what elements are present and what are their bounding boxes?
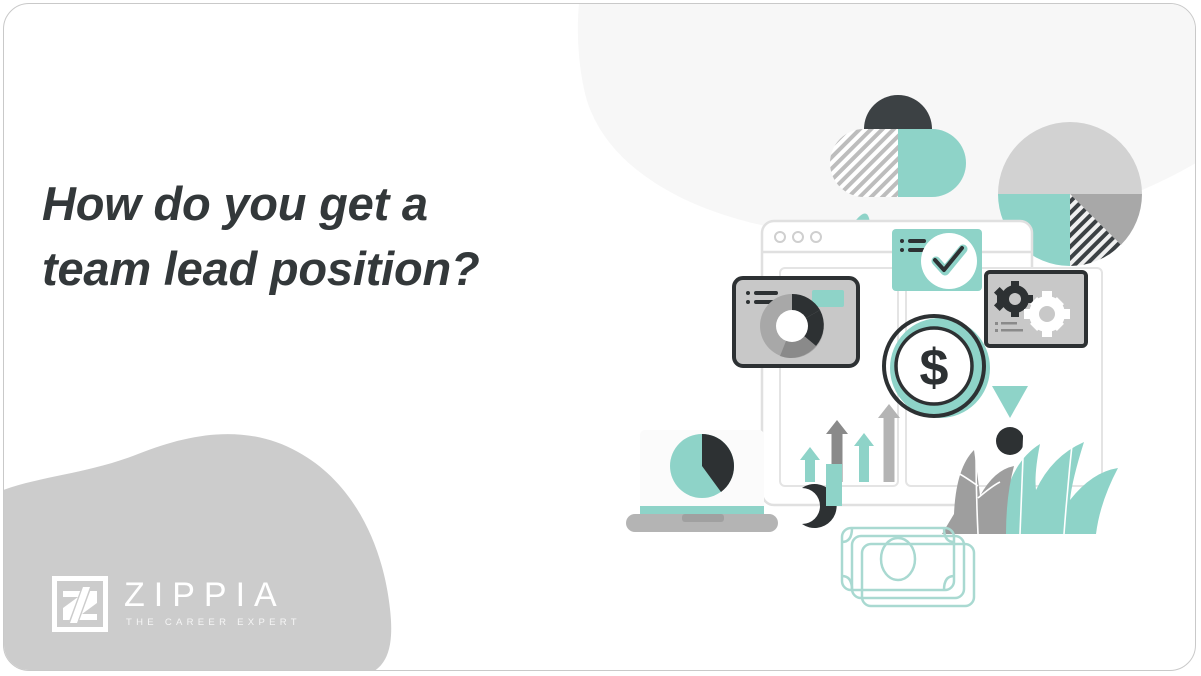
donut-chart: [760, 294, 824, 358]
teal-badge: [812, 290, 844, 307]
page-title: How do you get a team lead position?: [42, 172, 642, 302]
headline-line-2: team lead position?: [42, 237, 642, 302]
business-analytics-illustration: $: [604, 54, 1184, 634]
laptop-screen-edge: [640, 506, 764, 514]
dark-dot-decor: [996, 427, 1024, 455]
banknote-stack-icon: [842, 528, 974, 606]
slide-card: How do you get a team lead position? ZIP…: [3, 3, 1196, 671]
svg-text:$: $: [920, 339, 949, 397]
teal-vertical-bar: [826, 464, 842, 506]
zippia-logo-tagline: THE CAREER EXPERT: [126, 618, 301, 628]
donut-chart-card: [734, 278, 858, 366]
zippia-logo-mark-icon: [52, 576, 108, 632]
gears-settings-card: [986, 272, 1086, 346]
laptop-notch: [682, 514, 724, 522]
zippia-logo-wordmark: ZIPPIA: [124, 578, 286, 612]
checklist-approved-card: [892, 229, 982, 291]
laptop-pie-chart: [626, 430, 778, 532]
quad-petal-cluster-icon: [830, 95, 966, 197]
headline-line-1: How do you get a: [42, 172, 642, 237]
zippia-logo[interactable]: ZIPPIA THE CAREER EXPERT: [52, 574, 322, 636]
slide-canvas: How do you get a team lead position? ZIP…: [0, 0, 1201, 676]
